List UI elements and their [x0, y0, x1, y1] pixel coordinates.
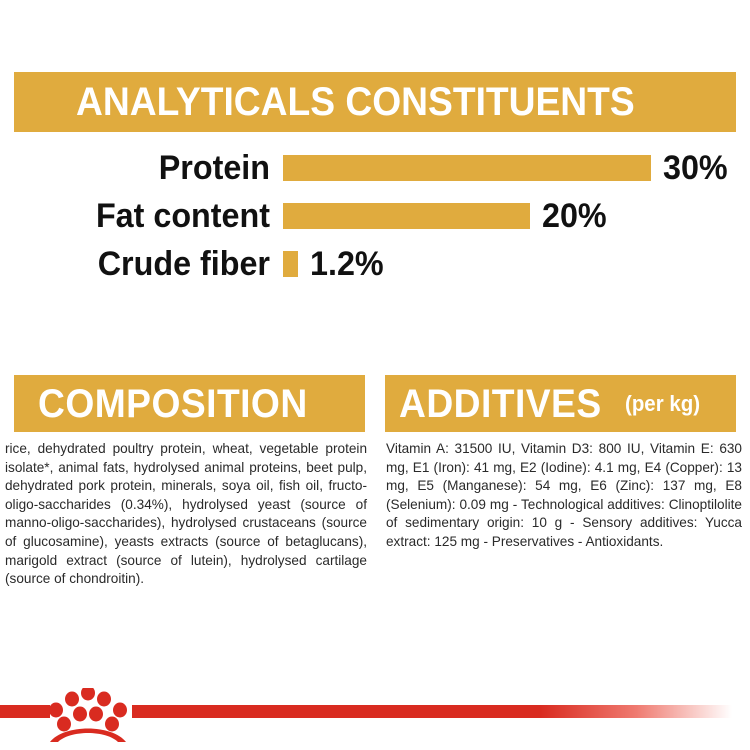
constituent-bar	[283, 155, 651, 181]
constituent-label: Fat content	[14, 199, 271, 233]
analyticals-constituents-panel: ANALYTICALS CONSTITUENTS Protein30%Fat c…	[0, 0, 750, 750]
composition-text: rice, dehydrated poultry protein, wheat,…	[5, 440, 367, 589]
additives-subtitle: (per kg)	[625, 391, 700, 417]
constituent-row: Crude fiber1.2%	[0, 242, 750, 286]
constituent-value: 30%	[663, 151, 728, 185]
constituent-label: Crude fiber	[14, 247, 271, 281]
constituent-bar-wrap: 1.2%	[283, 251, 388, 277]
constituent-bar-wrap: 20%	[283, 203, 610, 229]
constituent-value: 20%	[542, 199, 607, 233]
constituent-bar	[283, 251, 298, 277]
constituents-chart: Protein30%Fat content20%Crude fiber1.2%	[0, 146, 750, 296]
constituent-bar-wrap: 30%	[283, 155, 731, 181]
composition-title-bar: COMPOSITION	[14, 375, 365, 432]
page-title: ANALYTICALS CONSTITUENTS	[76, 82, 635, 122]
constituent-value: 1.2%	[310, 247, 384, 281]
constituent-bar	[283, 203, 530, 229]
footer-rule-right	[132, 705, 732, 718]
page-title-bar: ANALYTICALS CONSTITUENTS	[14, 72, 736, 132]
additives-text: Vitamin A: 31500 IU, Vitamin D3: 800 IU,…	[386, 440, 742, 552]
royal-canin-crown-icon	[48, 688, 134, 744]
constituent-label: Protein	[14, 151, 271, 185]
constituent-row: Protein30%	[0, 146, 750, 190]
additives-title-bar: ADDITIVES (per kg)	[385, 375, 736, 432]
constituent-row: Fat content20%	[0, 194, 750, 238]
footer-rule-left	[0, 705, 50, 718]
additives-title: ADDITIVES	[399, 384, 602, 424]
composition-title: COMPOSITION	[38, 384, 308, 424]
